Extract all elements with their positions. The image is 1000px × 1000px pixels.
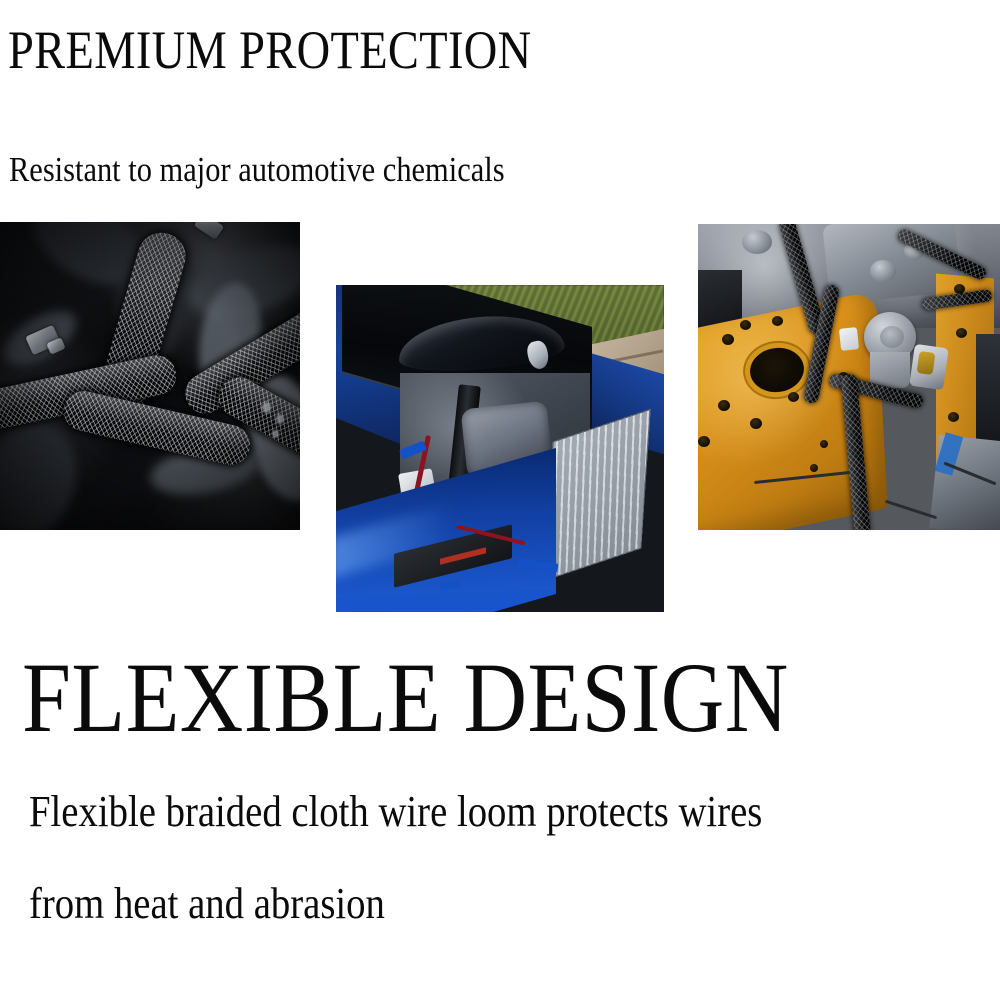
cover-bolt-hole	[820, 440, 828, 448]
cover-bolt-hole	[810, 464, 818, 472]
connector-slot	[917, 351, 936, 375]
cover-bolt-hole	[698, 436, 710, 447]
cover-bolt-hole	[788, 392, 799, 402]
bay-shadow	[976, 334, 1000, 444]
frame-hole	[956, 328, 967, 338]
manifold-boss	[870, 260, 896, 282]
cover-bolt-hole	[718, 400, 730, 411]
blue-car-engine-bay-image	[336, 285, 664, 612]
orange-engine-bay-wire-loom-image	[698, 224, 1000, 530]
manifold-boss	[742, 230, 772, 254]
thin-wire	[885, 500, 937, 520]
body-text-line-1: Flexible braided cloth wire loom protect…	[29, 790, 762, 834]
premium-protection-headline: PREMIUM PROTECTION	[8, 23, 532, 77]
braided-sleeving-closeup-image	[0, 222, 300, 530]
product-feature-poster: PREMIUM PROTECTION Resistant to major au…	[0, 0, 1000, 1000]
body-text-line-2: from heat and abrasion	[29, 882, 385, 926]
photo-vignette	[0, 222, 300, 530]
frame-hole	[948, 412, 959, 422]
flexible-design-headline: FLEXIBLE DESIGN	[22, 648, 789, 748]
chemical-resistance-subhead: Resistant to major automotive chemicals	[9, 152, 505, 187]
cover-bolt-hole	[750, 418, 762, 429]
cover-bolt-hole	[722, 334, 734, 345]
white-harness-clip	[839, 327, 859, 351]
sensor-body	[870, 352, 910, 388]
cover-bolt-hole	[740, 320, 751, 330]
sensor-cap	[880, 326, 904, 348]
cover-bolt-hole	[772, 316, 783, 326]
